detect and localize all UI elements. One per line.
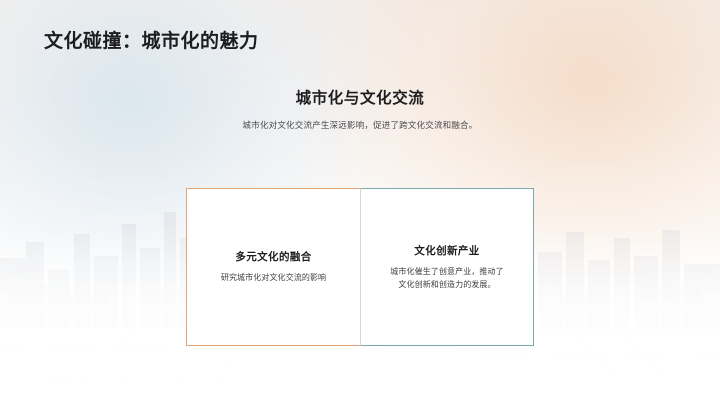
page-title: 文化碰撞：城市化的魅力: [44, 26, 259, 53]
card-title: 多元文化的融合: [235, 249, 311, 264]
card-body: 研究城市化对文化交流的影响: [221, 271, 326, 284]
card-multicultural-fusion[interactable]: 多元文化的融合 研究城市化对文化交流的影响: [186, 188, 360, 346]
card-body: 城市化催生了创意产业，推动了文化创新和创造力的发展。: [388, 265, 506, 291]
section-headline: 城市化与文化交流: [0, 86, 720, 108]
card-group: 多元文化的融合 研究城市化对文化交流的影响 文化创新产业 城市化催生了创意产业，…: [186, 188, 534, 346]
card-creative-industry[interactable]: 文化创新产业 城市化催生了创意产业，推动了文化创新和创造力的发展。: [360, 188, 534, 346]
slide: 文化碰撞：城市化的魅力 城市化与文化交流 城市化对文化交流产生深远影响，促进了跨…: [0, 0, 720, 404]
section-subhead: 城市化对文化交流产生深远影响，促进了跨文化交流和融合。: [0, 119, 720, 131]
card-title: 文化创新产业: [414, 243, 479, 258]
